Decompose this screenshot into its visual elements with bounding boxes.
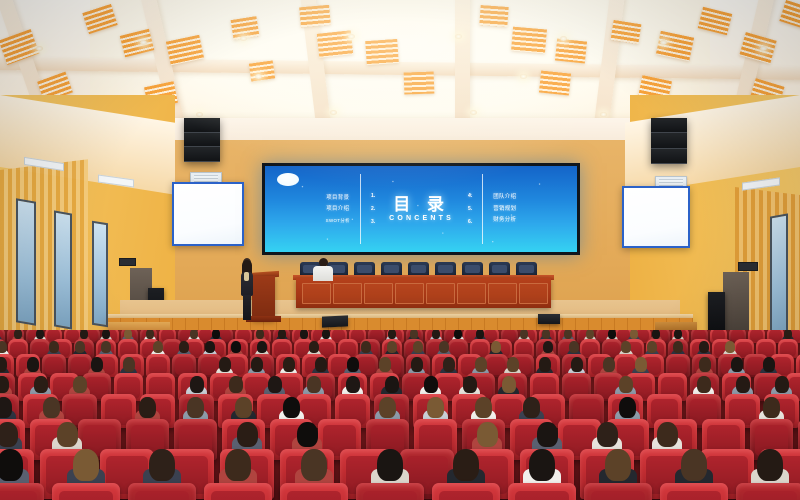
auditorium-seat[interactable] <box>204 483 272 500</box>
ceiling-downlight <box>470 110 477 115</box>
table-panel <box>302 283 331 304</box>
audience-member <box>0 449 23 481</box>
side-projection-screen-left <box>172 182 244 246</box>
audience-member <box>725 341 735 353</box>
table-panel <box>426 283 455 304</box>
presenter-at-podium <box>239 258 255 320</box>
table-panel <box>333 283 362 304</box>
ceiling-downlight <box>760 46 767 51</box>
ceiling-downlight <box>330 110 337 115</box>
floor-monitor-speaker <box>322 315 348 327</box>
audience-member <box>225 449 251 481</box>
audience-member <box>569 341 579 353</box>
window-right-1 <box>770 213 788 340</box>
audience-member <box>139 397 156 418</box>
audience-member <box>635 357 647 372</box>
audience-member <box>619 376 633 393</box>
audience-member <box>14 330 22 339</box>
audience-member <box>146 330 154 339</box>
floor-monitor-speaker-right <box>538 314 560 324</box>
audience-member <box>681 449 707 481</box>
audience-member <box>463 376 477 393</box>
ceiling-louver-panel <box>539 70 571 95</box>
audience-seating-area <box>0 330 800 500</box>
auditorium-seat[interactable] <box>280 483 348 500</box>
audience-member <box>219 357 231 372</box>
ceiling-downlight <box>36 46 43 51</box>
ceiling-louver-panel <box>611 20 642 44</box>
audience-member <box>388 330 396 339</box>
slide-divider-left <box>360 174 361 244</box>
slide-right-number-1: 4. <box>468 193 472 199</box>
auditorium-seat[interactable] <box>736 483 800 500</box>
audience-member <box>432 330 440 339</box>
audience-member <box>597 422 618 448</box>
slide-left-numbers: 1.2.3. <box>371 193 375 225</box>
audience-member <box>307 376 321 393</box>
audience-member <box>731 357 743 372</box>
audience-member <box>542 330 550 339</box>
ceiling-downlight <box>255 74 262 79</box>
audience-member <box>586 330 594 339</box>
audience-member <box>36 330 44 339</box>
ceiling-louver-panel <box>511 27 547 54</box>
audience-member <box>346 376 360 393</box>
audience-member <box>101 341 111 353</box>
audience-member <box>529 449 555 481</box>
audience-member <box>507 357 519 372</box>
audience-member <box>300 330 308 339</box>
ceiling-downlight <box>455 34 462 39</box>
audience-member <box>757 449 783 481</box>
audience-member <box>75 341 85 353</box>
table-panel <box>519 283 548 304</box>
window-left-3 <box>92 221 108 328</box>
audience-member <box>251 357 263 372</box>
slide-contents-layout: 项目背景项目介绍SWOT分析 1.2.3. 目 录 CONCENTS 4.5.6… <box>265 166 577 252</box>
ceiling-louver-panel <box>365 39 399 65</box>
audience-member <box>179 341 189 353</box>
slide-right-labels: 团队介绍营销规划财务分析 <box>493 194 516 224</box>
audience-member <box>699 341 709 353</box>
exit-sign-right <box>738 262 758 271</box>
audience-member <box>283 357 295 372</box>
audience-member <box>520 330 528 339</box>
audience-member <box>34 376 48 393</box>
ceiling-downlight <box>520 74 527 79</box>
audience-member <box>124 330 132 339</box>
audience-member <box>49 341 59 353</box>
audience-member <box>235 397 252 418</box>
audience-member <box>477 422 498 448</box>
audience-member <box>410 330 418 339</box>
line-array-speaker-right <box>651 118 687 164</box>
left-acoustic-slats <box>0 159 88 355</box>
audience-member <box>608 330 616 339</box>
audience-member <box>763 397 780 418</box>
audience-member <box>80 330 88 339</box>
slide-divider-right <box>482 174 483 244</box>
audience-member <box>205 341 215 353</box>
ceiling-louver-panel <box>779 0 800 30</box>
floor-speaker-right <box>708 292 725 334</box>
auditorium-seat[interactable] <box>660 483 728 500</box>
wooden-podium <box>252 276 275 320</box>
audience-member <box>736 376 750 393</box>
ceiling-louver-panel <box>404 71 435 94</box>
slide-title-block: 目 录 CONCENTS <box>385 196 458 222</box>
audience-member <box>347 357 359 372</box>
slide-cn-title: 目 录 <box>393 196 450 213</box>
audience-member <box>454 330 462 339</box>
audience-member <box>571 357 583 372</box>
audience-member <box>699 357 711 372</box>
audience-member <box>73 449 99 481</box>
slide-en-title: CONCENTS <box>389 215 454 222</box>
slide-right-number-3: 6. <box>468 219 472 225</box>
audience-member <box>0 357 7 372</box>
audience-member <box>57 422 78 448</box>
slide-right-item-1: 团队介绍 <box>493 194 516 201</box>
auditorium-seat[interactable] <box>0 483 44 500</box>
audience-member <box>268 376 282 393</box>
audience-member <box>475 357 487 372</box>
ceiling-downlight <box>660 40 667 45</box>
audience-member <box>315 357 327 372</box>
ceiling-downlight <box>140 40 147 45</box>
audience-member <box>439 341 449 353</box>
auditorium-seat[interactable] <box>432 483 500 500</box>
audience-member <box>190 376 204 393</box>
audience-member <box>301 449 327 481</box>
audience-member <box>379 357 391 372</box>
audience-member <box>0 397 12 418</box>
slide-canvas: 项目背景项目介绍SWOT分析 1.2.3. 目 录 CONCENTS 4.5.6… <box>265 166 577 252</box>
audience-member <box>190 330 198 339</box>
main-led-video-wall[interactable]: 项目背景项目介绍SWOT分析 1.2.3. 目 录 CONCENTS 4.5.6… <box>262 163 580 255</box>
ceiling-louver-panel <box>555 38 587 63</box>
slide-right-item-2: 营销规划 <box>493 206 516 213</box>
audience-member <box>775 376 789 393</box>
auditorium-scene: 项目背景项目介绍SWOT分析 1.2.3. 目 录 CONCENTS 4.5.6… <box>0 0 800 500</box>
ceiling-downlight <box>348 34 355 39</box>
audience-member <box>619 397 636 418</box>
audience-member <box>237 422 258 448</box>
audience-member <box>453 449 479 481</box>
audience-member <box>475 397 492 418</box>
auditorium-seat[interactable] <box>52 483 120 500</box>
audience-member <box>424 376 438 393</box>
audience-member <box>385 376 399 393</box>
line-array-speaker-left <box>184 118 220 162</box>
table-panel <box>488 283 517 304</box>
audience-member <box>123 357 135 372</box>
ceiling-downlight <box>240 36 247 41</box>
audience-member <box>73 376 87 393</box>
table-panel <box>364 283 393 304</box>
ceiling-louver-panel <box>479 5 508 27</box>
audience-member <box>621 341 631 353</box>
slide-left-item-3: SWOT分析 <box>326 218 350 224</box>
audience-member <box>0 376 9 393</box>
audience-member <box>605 449 631 481</box>
side-projection-screen-right <box>622 186 690 248</box>
head-table <box>296 278 551 308</box>
audience-member <box>411 357 423 372</box>
audience-member <box>697 376 711 393</box>
slide-left-number-3: 3. <box>371 219 375 225</box>
audience-member <box>673 341 683 353</box>
audience-member <box>27 357 39 372</box>
audience-member <box>491 341 501 353</box>
auditorium-seat[interactable] <box>584 483 652 500</box>
audience-member <box>0 422 18 448</box>
auditorium-seat[interactable] <box>508 483 576 500</box>
audience-member <box>564 330 572 339</box>
audience-member <box>502 376 516 393</box>
audience-member <box>361 341 371 353</box>
window-left-1 <box>16 198 36 326</box>
slide-right-numbers: 4.5.6. <box>468 193 472 225</box>
audience-member <box>537 422 558 448</box>
slide-left-item-2: 项目介绍 <box>326 206 350 213</box>
slide-left-number-2: 2. <box>371 206 375 212</box>
audience-member <box>278 330 286 339</box>
ceiling-downlight <box>600 112 607 117</box>
audience-member <box>102 330 110 339</box>
audience-member <box>647 341 657 353</box>
audience-member <box>322 330 330 339</box>
audience-member <box>784 330 792 339</box>
doorway-right[interactable] <box>723 272 749 334</box>
audience-member <box>187 397 204 418</box>
audience-member <box>0 341 7 353</box>
audience-member <box>652 330 660 339</box>
audience-member <box>309 341 319 353</box>
audience-member <box>763 357 775 372</box>
audience-member <box>523 397 540 418</box>
audience-member <box>257 341 267 353</box>
audience-member <box>539 357 551 372</box>
exit-sign-left <box>119 258 136 266</box>
ceiling-downlight <box>560 36 567 41</box>
audience-member <box>413 341 423 353</box>
slide-right-item-3: 财务分析 <box>493 217 516 224</box>
table-panel <box>395 283 424 304</box>
audience-member <box>443 357 455 372</box>
audience-member <box>229 376 243 393</box>
audience-member <box>427 397 444 418</box>
ceiling-louver-panel <box>249 60 275 81</box>
audience-member <box>387 341 397 353</box>
ceiling-louver-panel <box>299 5 331 28</box>
audience-member <box>543 341 553 353</box>
audience-member <box>231 341 241 353</box>
table-panel <box>457 283 486 304</box>
audience-member <box>149 449 175 481</box>
window-left-2 <box>54 210 72 329</box>
audience-member <box>256 330 264 339</box>
audience-member <box>476 330 484 339</box>
slide-left-labels: 项目背景项目介绍SWOT分析 <box>326 195 350 224</box>
audience-member <box>657 422 678 448</box>
audience-member <box>297 422 318 448</box>
ceiling-downlight <box>196 112 203 117</box>
audience-member <box>630 330 638 339</box>
slide-left-number-1: 1. <box>371 193 375 199</box>
auditorium-seat[interactable] <box>128 483 196 500</box>
audience-member <box>153 341 163 353</box>
slide-right-number-2: 5. <box>468 206 472 212</box>
audience-member <box>603 357 615 372</box>
audience-member <box>91 357 103 372</box>
audience-member <box>379 397 396 418</box>
audience-member <box>43 397 60 418</box>
auditorium-seat[interactable] <box>356 483 424 500</box>
audience-member <box>283 397 300 418</box>
audience-member <box>212 330 220 339</box>
slide-left-item-1: 项目背景 <box>326 195 350 202</box>
audience-member <box>674 330 682 339</box>
seated-host <box>313 258 333 280</box>
audience-member <box>377 449 403 481</box>
